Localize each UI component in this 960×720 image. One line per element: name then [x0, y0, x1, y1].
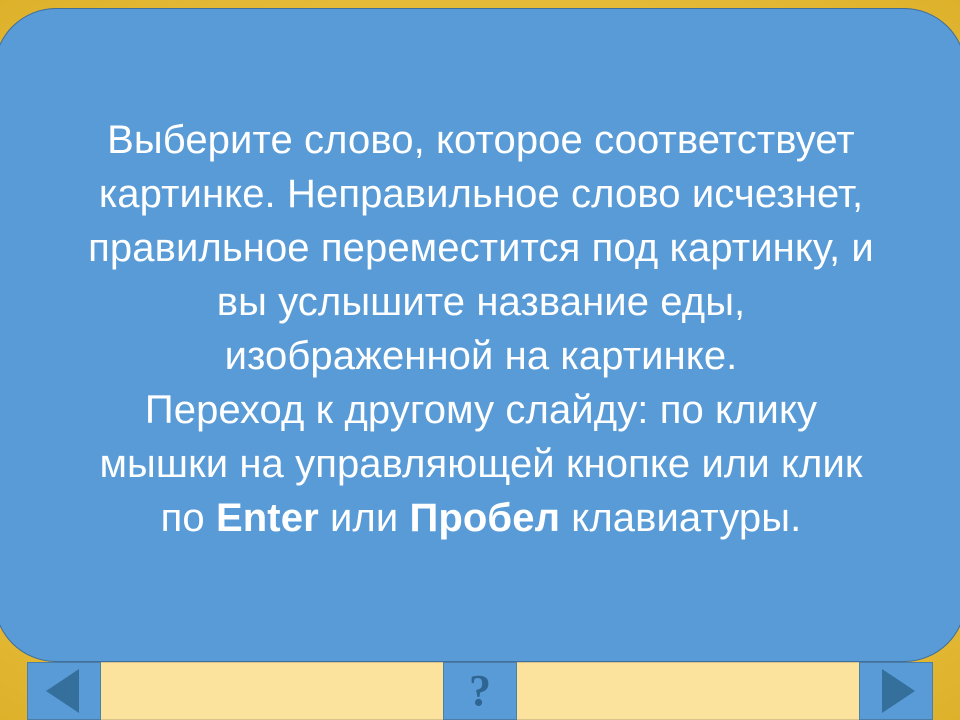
navigation-bar: ? [27, 662, 933, 720]
instruction-line-8: по Enter или Пробел клавиатуры. [9, 491, 953, 545]
previous-slide-button[interactable] [27, 662, 101, 720]
navbar-spacer-right [517, 662, 859, 720]
instruction-line-4: вы услышите название еды, [9, 275, 953, 329]
next-slide-button[interactable] [859, 662, 933, 720]
instruction-line-5: изображенной на картинке. [9, 329, 953, 383]
triangle-left-icon [46, 669, 79, 713]
instruction-line-8-text-1: по [161, 496, 216, 540]
instruction-line-3: правильное переместится под картинку, и [9, 221, 953, 275]
navbar-spacer-left [101, 662, 443, 720]
help-button[interactable]: ? [443, 662, 517, 720]
key-space-label: Пробел [410, 496, 561, 540]
instruction-line-8-text-2: или [319, 496, 410, 540]
instruction-line-2: картинке. Неправильное слово исчезнет, [9, 167, 953, 221]
instruction-line-6: Переход к другому слайду: по клику [9, 383, 953, 437]
instruction-text-block: Выберите слово, которое соответствует ка… [0, 113, 960, 545]
question-mark-icon: ? [469, 669, 491, 713]
presentation-slide: Выберите слово, которое соответствует ка… [0, 0, 960, 720]
key-enter-label: Enter [216, 496, 319, 540]
instruction-line-7: мышки на управляющей кнопке или клик [9, 437, 953, 491]
instruction-line-1: Выберите слово, которое соответствует [9, 113, 953, 167]
triangle-right-icon [882, 669, 915, 713]
content-panel: Выберите слово, которое соответствует ка… [0, 8, 960, 662]
instruction-line-8-text-3: клавиатуры. [560, 496, 801, 540]
